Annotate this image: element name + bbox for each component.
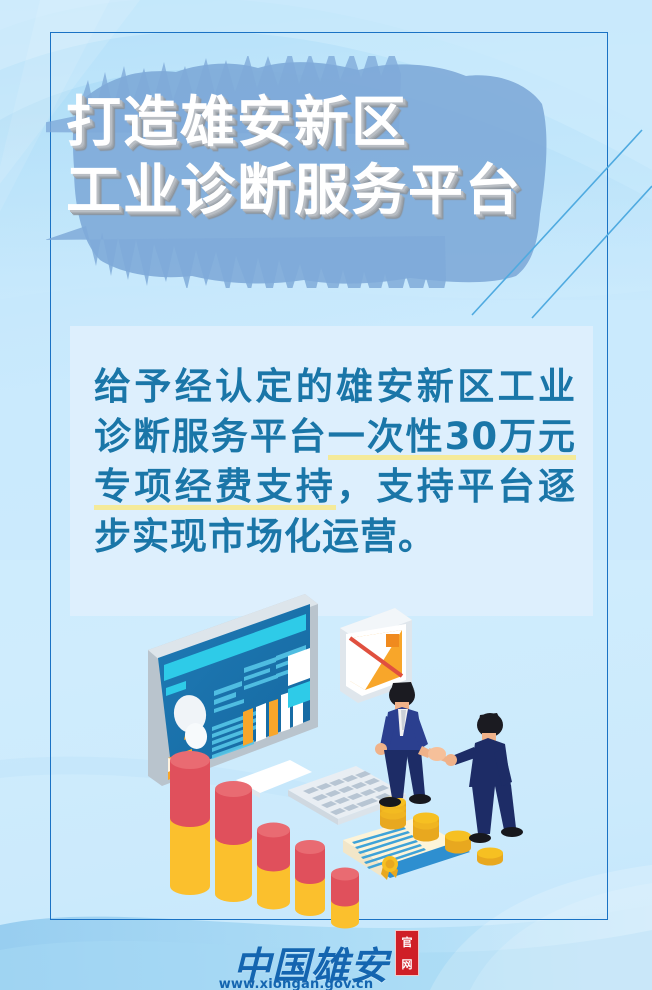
- isometric-illustration: [140, 590, 560, 930]
- policy-text-card: 给予经认定的雄安新区工业诊断服务平台一次性30万元专项经费支持，支持平台逐步实现…: [70, 326, 593, 616]
- policy-body-text: 给予经认定的雄安新区工业诊断服务平台一次性30万元专项经费支持，支持平台逐步实现…: [94, 362, 576, 562]
- poster-root: 打造雄安新区 工业诊断服务平台 给予经认定的雄安新区工业诊断服务平台一次性30万…: [0, 0, 652, 990]
- seal-char-bottom: 网: [402, 959, 413, 970]
- handshake-hands: [428, 747, 448, 763]
- page-title: 打造雄安新区 工业诊断服务平台: [66, 88, 606, 224]
- footer: 中国雄安 官 网 www.xiongan.gov.cn: [0, 915, 652, 990]
- official-seal-icon: 官 网: [395, 930, 419, 976]
- businessman-right: [445, 713, 523, 843]
- title-line-2: 工业诊断服务平台: [66, 156, 606, 224]
- title-line-1: 打造雄安新区: [66, 88, 606, 156]
- site-url[interactable]: www.xiongan.gov.cn: [0, 977, 622, 990]
- seal-char-top: 官: [402, 937, 413, 948]
